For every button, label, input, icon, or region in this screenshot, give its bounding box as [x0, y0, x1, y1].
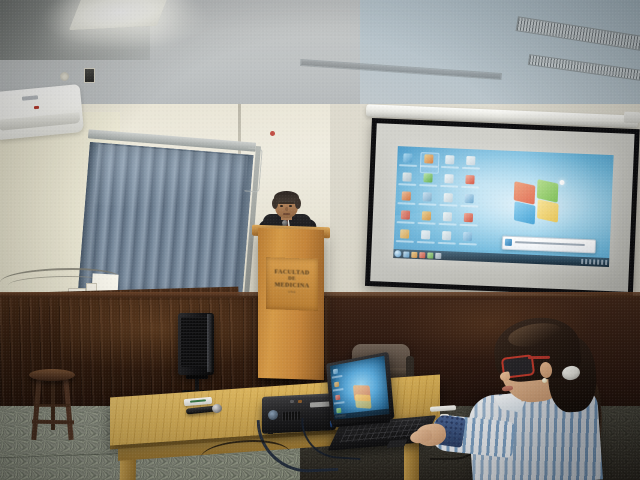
ceiling-right-tint — [360, 0, 640, 118]
wall-speaker-box — [84, 68, 95, 83]
desktop-icon[interactable] — [445, 155, 454, 164]
desktop-icon-label — [439, 204, 457, 207]
projected-windows-desktop — [393, 146, 614, 267]
desktop-icon[interactable] — [402, 191, 411, 200]
room-photo-scene: FACULTAD DE MEDICINA UNA — [0, 0, 640, 480]
laptop-taskbar[interactable] — [334, 409, 390, 420]
projection-screen-roller-cap — [624, 112, 640, 124]
pa-speaker-grille — [181, 317, 209, 367]
laptop-desktop-icon[interactable] — [334, 382, 339, 388]
desktop-icon-label — [462, 167, 480, 170]
presenter-hair — [272, 198, 278, 209]
desktop-icon[interactable] — [465, 175, 474, 184]
podium-sign-line-2: DE — [288, 277, 296, 282]
desktop-icon-label — [399, 164, 417, 167]
laptop-desktop-icon[interactable] — [335, 395, 340, 401]
presenter-nose — [285, 207, 288, 211]
search-input-text[interactable] — [515, 241, 585, 246]
fluorescent-ceiling-light — [69, 0, 169, 30]
air-conditioner-indicator-icon — [34, 106, 39, 109]
projection-screen-surface — [370, 123, 634, 292]
wooden-bar-stool[interactable] — [29, 369, 75, 381]
pa-speaker-edge-highlight — [207, 314, 213, 372]
laptop-desktop-icon[interactable] — [333, 369, 338, 375]
desktop-icon[interactable] — [424, 154, 433, 163]
system-tray[interactable] — [581, 259, 607, 265]
presenter-hair — [295, 198, 301, 209]
podium-institution-sign: FACULTAD DE MEDICINA UNA — [268, 265, 316, 299]
projector-power-button[interactable] — [298, 400, 302, 403]
laptop-desktop-icon-label — [333, 388, 344, 391]
laptop-screen — [330, 356, 390, 420]
desktop-icon[interactable] — [444, 193, 453, 202]
desktop-icon-label — [419, 184, 437, 187]
desktop-icon-label — [397, 202, 415, 205]
projection-sheen — [393, 203, 526, 267]
laptop-wallpaper-logo-icon — [355, 394, 372, 408]
projector-button[interactable] — [290, 400, 294, 403]
desktop-icon-label — [418, 203, 436, 206]
presenter-eye — [289, 205, 292, 207]
podium-sign-line-3: MEDICINA — [275, 282, 310, 289]
projector-brand-label — [310, 401, 330, 407]
laptop-computer[interactable] — [326, 352, 395, 425]
desktop-icon[interactable] — [402, 172, 411, 181]
stool-rung — [32, 420, 74, 425]
ceiling-sensor-icon — [60, 72, 69, 81]
desktop-icon[interactable] — [423, 192, 432, 201]
desktop-icon[interactable] — [403, 153, 412, 162]
wall-indicator-icon — [270, 131, 275, 136]
presenter-eyebrows — [279, 202, 294, 204]
earring-icon — [542, 378, 547, 383]
desktop-icon-label — [461, 186, 479, 189]
desktop-icon-label — [441, 166, 459, 169]
stool-rung — [34, 404, 70, 407]
desktop-icon[interactable] — [466, 156, 475, 165]
desktop-icon[interactable] — [423, 173, 432, 182]
laptop-desktop-icon-label — [332, 375, 343, 378]
presenter-mouth — [283, 213, 290, 215]
presenter-eye — [280, 205, 283, 207]
podium-sign-line-1: FACULTAD — [274, 269, 309, 276]
projection-screen — [365, 118, 640, 297]
desktop-icon[interactable] — [465, 194, 474, 203]
laptop-desktop-icon[interactable] — [336, 408, 341, 414]
podium-sign-line-4: UNA — [288, 290, 295, 294]
eyeglasses-temple-arm — [528, 356, 550, 359]
desktop-icon[interactable] — [444, 174, 453, 183]
desktop-icon-label — [398, 183, 416, 186]
blind-highlight — [94, 144, 248, 216]
desktop-icon-label — [440, 185, 458, 188]
laptop-desktop-icon-label — [334, 401, 345, 404]
